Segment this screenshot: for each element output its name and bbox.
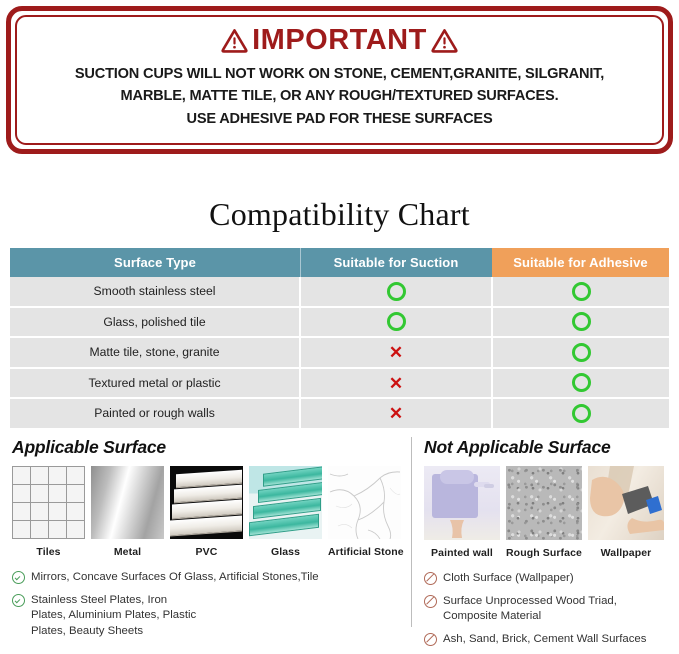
prohibited-icon <box>424 572 437 585</box>
not-applicable-bullet-list: Cloth Surface (Wallpaper) Surface Unproc… <box>424 571 674 647</box>
thumbnail-artificial-stone: Artificial Stone <box>328 466 404 558</box>
list-item-label: Stainless Steel Plates, Iron Plates, Alu… <box>31 593 196 640</box>
bottom-sections: Applicable Surface Tiles Metal <box>0 432 679 630</box>
cell-adhesive-ok <box>492 277 669 307</box>
thumbnail-caption: Tiles <box>12 546 85 558</box>
thumbnail-wallpaper: Wallpaper <box>588 466 664 559</box>
list-item: Ash, Sand, Brick, Cement Wall Surfaces <box>424 632 674 648</box>
warning-line-3: USE ADHESIVE PAD FOR THESE SURFACES <box>75 108 604 130</box>
warning-message: SUCTION CUPS WILL NOT WORK ON STONE, CEM… <box>75 63 604 130</box>
warning-line-2: MARBLE, MATTE TILE, OR ANY ROUGH/TEXTURE… <box>75 85 604 107</box>
pvc-thumbnail-image <box>170 466 243 539</box>
column-header-suction: Suitable for Suction <box>300 248 492 277</box>
table-row: Painted or rough walls ✕ <box>10 398 669 429</box>
list-item: Cloth Surface (Wallpaper) <box>424 571 674 587</box>
thumbnail-painted-wall: Painted wall <box>424 466 500 559</box>
cell-suction-no: ✕ <box>300 337 492 368</box>
cell-surface-type: Painted or rough walls <box>10 398 300 429</box>
list-item-label: Cloth Surface (Wallpaper) <box>443 571 574 587</box>
thumbnail-rough-surface: Rough Surface <box>506 466 582 559</box>
applicable-surface-heading: Applicable Surface <box>12 437 404 458</box>
green-circle-icon <box>572 312 591 331</box>
cell-surface-type: Smooth stainless steel <box>10 277 300 307</box>
applicable-bullet-list: Mirrors, Concave Surfaces Of Glass, Arti… <box>12 570 404 639</box>
table-row: Textured metal or plastic ✕ <box>10 368 669 399</box>
important-warning-box: IMPORTANT SUCTION CUPS WILL NOT WORK ON … <box>6 6 673 154</box>
warning-triangle-icon <box>221 28 248 53</box>
cell-surface-type: Matte tile, stone, granite <box>10 337 300 368</box>
page-title: IMPORTANT <box>252 26 427 55</box>
list-item: Stainless Steel Plates, Iron Plates, Alu… <box>12 593 404 640</box>
red-cross-icon: ✕ <box>389 407 403 420</box>
painted-wall-thumbnail-image <box>424 466 500 540</box>
list-item-label: Mirrors, Concave Surfaces Of Glass, Arti… <box>31 570 319 586</box>
important-warning-inner-frame: IMPORTANT SUCTION CUPS WILL NOT WORK ON … <box>15 15 664 145</box>
cell-surface-type: Glass, polished tile <box>10 307 300 338</box>
applicable-thumbnail-row: Tiles Metal PVC <box>12 466 404 558</box>
green-circle-icon <box>572 373 591 392</box>
compatibility-chart-title: Compatibility Chart <box>0 196 679 233</box>
wallpaper-thumbnail-image <box>588 466 664 540</box>
list-item: Surface Unprocessed Wood Triad, Composit… <box>424 594 674 625</box>
cell-suction-ok <box>300 307 492 338</box>
cell-suction-no: ✕ <box>300 368 492 399</box>
check-circle-icon <box>12 571 25 584</box>
list-item-label: Surface Unprocessed Wood Triad, Composit… <box>443 594 674 625</box>
thumbnail-metal: Metal <box>91 466 164 558</box>
compatibility-table: Surface Type Suitable for Suction Suitab… <box>10 248 669 430</box>
thumbnail-glass: Glass <box>249 466 322 558</box>
green-circle-icon <box>572 404 591 423</box>
cell-suction-ok <box>300 277 492 307</box>
table-header-row: Surface Type Suitable for Suction Suitab… <box>10 248 669 277</box>
thumbnail-caption: PVC <box>170 546 243 558</box>
red-cross-icon: ✕ <box>389 377 403 390</box>
tiles-thumbnail-image <box>12 466 85 539</box>
thumbnail-caption: Artificial Stone <box>328 546 404 558</box>
thumbnail-caption: Metal <box>91 546 164 558</box>
thumbnail-caption: Wallpaper <box>588 547 664 559</box>
table-row: Matte tile, stone, granite ✕ <box>10 337 669 368</box>
green-circle-icon <box>387 312 406 331</box>
cell-suction-no: ✕ <box>300 398 492 429</box>
check-circle-icon <box>12 594 25 607</box>
not-applicable-surface-heading: Not Applicable Surface <box>424 437 674 458</box>
cell-adhesive-ok <box>492 307 669 338</box>
column-header-adhesive: Suitable for Adhesive <box>492 248 669 277</box>
thumbnail-caption: Glass <box>249 546 322 558</box>
red-cross-icon: ✕ <box>389 346 403 359</box>
artificial-stone-thumbnail-image <box>328 466 401 539</box>
thumbnail-caption: Rough Surface <box>506 547 582 559</box>
cell-adhesive-ok <box>492 398 669 429</box>
prohibited-icon <box>424 633 437 646</box>
cell-adhesive-ok <box>492 368 669 399</box>
list-item-label: Ash, Sand, Brick, Cement Wall Surfaces <box>443 632 646 648</box>
prohibited-icon <box>424 595 437 608</box>
table-row: Smooth stainless steel <box>10 277 669 307</box>
rough-surface-thumbnail-image <box>506 466 582 540</box>
green-circle-icon <box>572 343 591 362</box>
thumbnail-tiles: Tiles <box>12 466 85 558</box>
not-applicable-thumbnail-row: Painted wall Rough Surface <box>424 466 674 559</box>
metal-thumbnail-image <box>91 466 164 539</box>
warning-line-1: SUCTION CUPS WILL NOT WORK ON STONE, CEM… <box>75 63 604 85</box>
green-circle-icon <box>572 282 591 301</box>
glass-thumbnail-image <box>249 466 322 539</box>
important-title-row: IMPORTANT <box>221 26 458 55</box>
thumbnail-caption: Painted wall <box>424 547 500 559</box>
cell-adhesive-ok <box>492 337 669 368</box>
green-circle-icon <box>387 282 406 301</box>
thumbnail-pvc: PVC <box>170 466 243 558</box>
list-item: Mirrors, Concave Surfaces Of Glass, Arti… <box>12 570 404 586</box>
warning-triangle-icon <box>431 28 458 53</box>
section-divider <box>411 437 412 627</box>
cell-surface-type: Textured metal or plastic <box>10 368 300 399</box>
not-applicable-surface-panel: Not Applicable Surface Painted wall <box>424 432 674 654</box>
column-header-surface-type: Surface Type <box>10 248 300 277</box>
table-row: Glass, polished tile <box>10 307 669 338</box>
applicable-surface-panel: Applicable Surface Tiles Metal <box>12 432 404 646</box>
